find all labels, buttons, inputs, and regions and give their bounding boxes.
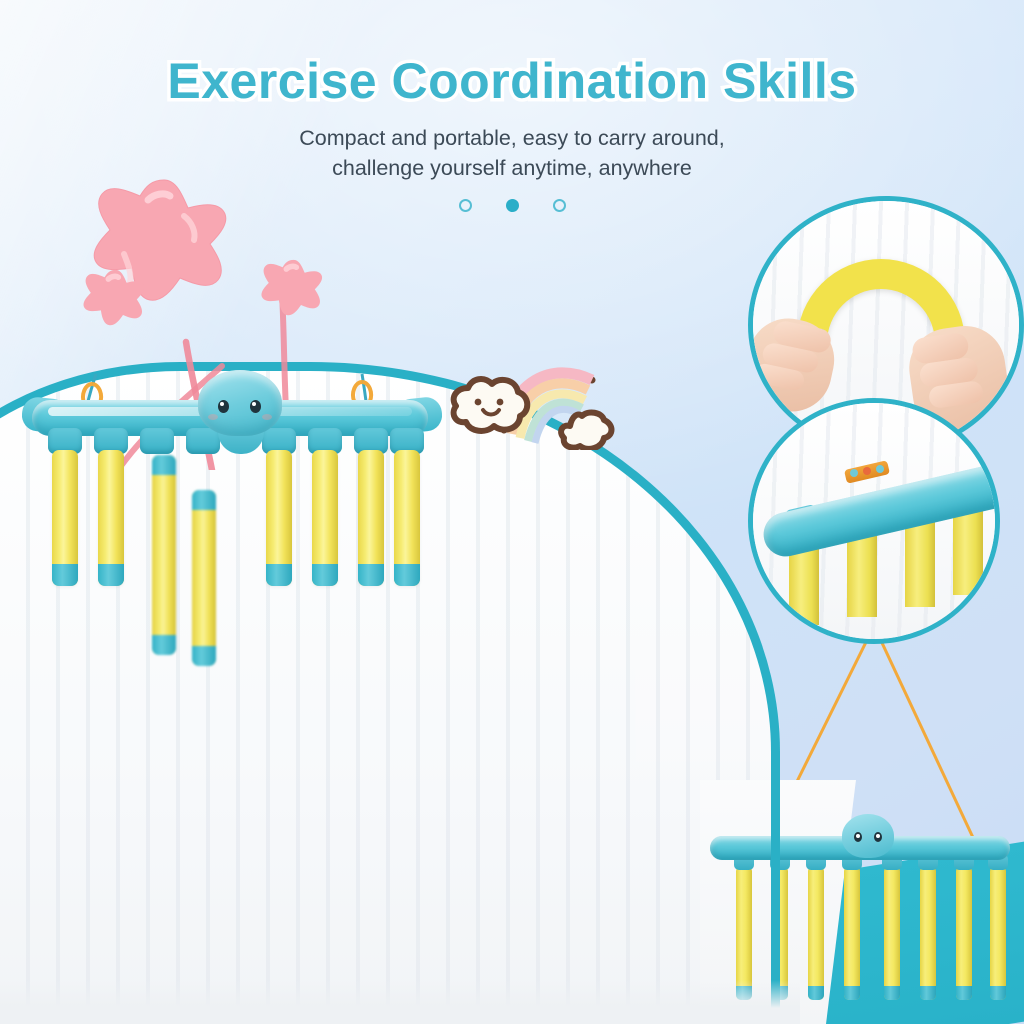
- pagination-dots[interactable]: [0, 199, 1024, 212]
- control-key-right[interactable]: [876, 465, 884, 473]
- subtitle-line-2: challenge yourself anytime, anywhere: [0, 154, 1024, 184]
- toy-stick: [98, 450, 124, 586]
- toy-socket: [140, 428, 174, 454]
- octopus-eye-left: [218, 400, 229, 413]
- octopus-eye-right: [250, 400, 261, 413]
- toy-stick: [358, 450, 384, 586]
- octopus-cheek-left: [208, 414, 218, 420]
- page-subtitle: Compact and portable, easy to carry arou…: [0, 124, 1024, 183]
- octopus-eye-left: [854, 832, 862, 842]
- bottom-stick: [808, 866, 824, 1000]
- cloud-eye-left: [475, 399, 482, 406]
- bottom-stick: [884, 866, 900, 1000]
- page-title: Exercise Coordination Skills: [0, 52, 1024, 110]
- toy-socket: [186, 428, 220, 454]
- pagination-dot-2[interactable]: [506, 199, 519, 212]
- bottom-stick: [920, 866, 936, 1000]
- toy-stick: [394, 450, 420, 586]
- falling-stick-1: [152, 455, 176, 655]
- octopus-mascot-head: [198, 370, 282, 436]
- rainbow-cloud-decoration: [446, 344, 638, 450]
- pagination-dot-3[interactable]: [553, 199, 566, 212]
- subtitle-line-1: Compact and portable, easy to carry arou…: [0, 124, 1024, 154]
- toy-stick: [266, 450, 292, 586]
- octopus-crossbar-toy: [22, 372, 442, 602]
- toy-stick: [312, 450, 338, 586]
- header-block: Exercise Coordination Skills Compact and…: [0, 52, 1024, 212]
- control-key-center[interactable]: [863, 467, 871, 475]
- octopus-eye-right: [874, 832, 882, 842]
- bottom-stick: [844, 866, 860, 1000]
- falling-stick-2: [192, 490, 216, 666]
- inset-control-panel[interactable]: [748, 398, 1000, 644]
- panel-bottom-fade: [0, 980, 800, 1024]
- cloud-right: [561, 413, 611, 449]
- cloud-face-left: [454, 379, 528, 431]
- bottom-stick: [990, 866, 1006, 1000]
- bottom-stick: [956, 866, 972, 1000]
- control-key-left[interactable]: [850, 469, 858, 477]
- marketing-image-canvas: Exercise Coordination Skills Compact and…: [0, 0, 1024, 1024]
- bottom-octopus-mascot: [842, 814, 894, 858]
- octopus-cheek-right: [262, 414, 272, 420]
- cloud-eye-right: [497, 399, 504, 406]
- toy-stick: [52, 450, 78, 586]
- pagination-dot-1[interactable]: [459, 199, 472, 212]
